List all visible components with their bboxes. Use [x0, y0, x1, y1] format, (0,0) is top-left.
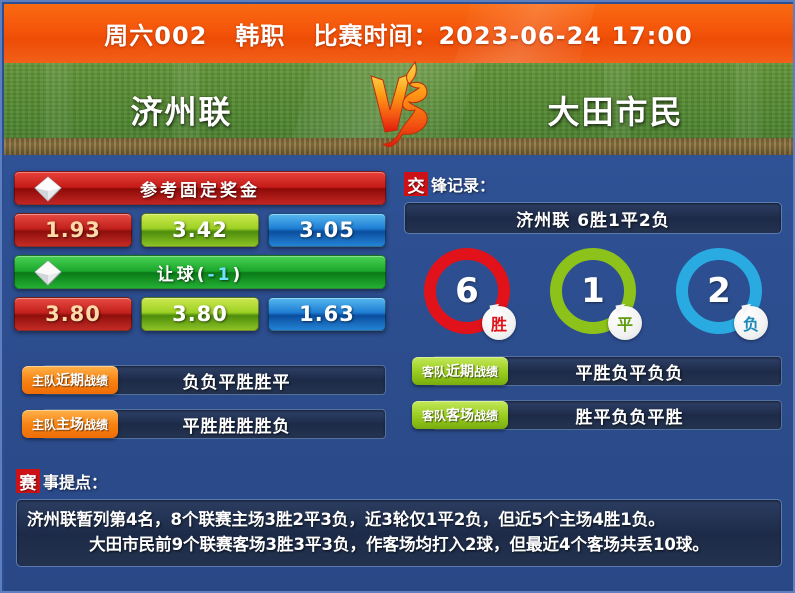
head-to-head-column: 交 锋记录： 济州联 6胜1平2负 6 胜 1 平	[404, 171, 782, 430]
tab-suffix: 战绩	[474, 363, 498, 380]
tips-heading: 赛 事提点：	[16, 468, 782, 494]
ring-draw-value: 1	[581, 271, 605, 311]
h2h-summary-bar: 济州联 6胜1平2负	[404, 202, 782, 234]
match-tips-section: 赛 事提点： 济州联暂列第4名，8个联赛主场3胜2平3负，近3轮仅1平2负，但近…	[16, 468, 782, 567]
handicap-title-label: 让球(-1)	[157, 260, 243, 285]
tab-prefix: 主队	[32, 416, 56, 433]
fixed-odd-away-win[interactable]: 3.05	[268, 213, 386, 247]
h2h-ring-draw: 1 平	[550, 248, 636, 334]
main-panel: 参考固定奖金 1.93 3.42 3.05 让球(-1) 3.80	[4, 155, 793, 593]
tab-suffix: 战绩	[84, 416, 108, 433]
handicap-odd-draw[interactable]: 3.80	[141, 297, 259, 331]
home-venue-form-value: 平胜胜胜胜负	[183, 412, 291, 437]
ring-loss-badge: 负	[734, 306, 768, 340]
header-bar: 周六002 韩职 比赛时间：2023-06-24 17:00	[4, 4, 793, 63]
away-venue-form-value: 胜平负负平胜	[576, 403, 684, 428]
handicap-odd-away-win[interactable]: 1.63	[268, 297, 386, 331]
h2h-heading: 交 锋记录：	[404, 171, 782, 197]
home-recent-form-tab[interactable]: 主队近期战绩	[22, 366, 118, 394]
ring-win-value: 6	[455, 271, 479, 311]
fixed-odds-row: 1.93 3.42 3.05	[14, 213, 386, 247]
tab-mid: 主场	[56, 414, 84, 434]
handicap-suffix: )	[232, 265, 243, 285]
tab-mid: 客场	[446, 405, 474, 425]
home-venue-form-row: 平胜胜胜胜负 主队主场战绩	[14, 409, 386, 439]
away-venue-form-row: 胜平负负平胜 客队客场战绩	[404, 400, 782, 430]
handicap-odd-home-win[interactable]: 3.80	[14, 297, 132, 331]
handicap-title-bar: 让球(-1)	[14, 255, 386, 289]
away-recent-form-row: 平胜负平负负 客队近期战绩	[404, 356, 782, 386]
ring-loss-value: 2	[707, 271, 731, 311]
diamond-icon	[33, 258, 63, 288]
h2h-ring-win: 6 胜	[424, 248, 510, 334]
tips-line-2: 大田市民前9个联赛客场3胜3平3负，作客场均打入2球，但最近4个客场共丢10球。	[27, 532, 771, 557]
away-venue-form-tab[interactable]: 客队客场战绩	[412, 401, 508, 429]
home-recent-form-row: 负负平胜胜平 主队近期战绩	[14, 365, 386, 395]
ring-win-badge: 胜	[482, 306, 516, 340]
tab-suffix: 战绩	[84, 372, 108, 389]
tips-heading-glyph: 赛	[16, 469, 40, 493]
h2h-ring-loss: 2 负	[676, 248, 762, 334]
ring-draw-badge: 平	[608, 306, 642, 340]
handicap-prefix: 让球(	[157, 265, 208, 285]
handicap-value: -1	[208, 265, 233, 285]
h2h-rings: 6 胜 1 平 2 负	[404, 248, 782, 334]
home-venue-form-tab[interactable]: 主队主场战绩	[22, 410, 118, 438]
fixed-odd-home-win[interactable]: 1.93	[14, 213, 132, 247]
tab-mid: 近期	[56, 370, 84, 390]
diamond-icon	[33, 174, 63, 204]
tab-prefix: 主队	[32, 372, 56, 389]
match-preview-card: 周六002 韩职 比赛时间：2023-06-24 17:00 济州联 大田市民	[0, 0, 795, 593]
tips-box: 济州联暂列第4名，8个联赛主场3胜2平3负，近3轮仅1平2负，但近5个主场4胜1…	[16, 499, 782, 567]
handicap-odds-row: 3.80 3.80 1.63	[14, 297, 386, 331]
odds-column: 参考固定奖金 1.93 3.42 3.05 让球(-1) 3.80	[14, 171, 386, 439]
match-header-title: 周六002 韩职 比赛时间：2023-06-24 17:00	[104, 16, 693, 51]
home-recent-form-value: 负负平胜胜平	[183, 368, 291, 393]
away-team-name: 大田市民	[438, 87, 793, 133]
tab-suffix: 战绩	[474, 407, 498, 424]
tab-prefix: 客队	[422, 407, 446, 424]
tab-prefix: 客队	[422, 363, 446, 380]
tips-heading-text: 事提点：	[43, 469, 107, 493]
fixed-odds-title-label: 参考固定奖金	[140, 176, 260, 201]
h2h-summary-text: 济州联 6胜1平2负	[516, 206, 669, 231]
away-recent-form-tab[interactable]: 客队近期战绩	[412, 357, 508, 385]
tips-line-1: 济州联暂列第4名，8个联赛主场3胜2平3负，近3轮仅1平2负，但近5个主场4胜1…	[27, 507, 771, 532]
tab-mid: 近期	[446, 361, 474, 381]
fixed-odd-draw[interactable]: 3.42	[141, 213, 259, 247]
h2h-heading-text: 锋记录：	[431, 172, 495, 196]
home-team-name: 济州联	[4, 87, 359, 133]
vs-flame-icon	[357, 58, 442, 153]
fixed-odds-title-bar: 参考固定奖金	[14, 171, 386, 205]
away-recent-form-value: 平胜负平负负	[576, 359, 684, 384]
h2h-heading-glyph: 交	[404, 172, 428, 196]
